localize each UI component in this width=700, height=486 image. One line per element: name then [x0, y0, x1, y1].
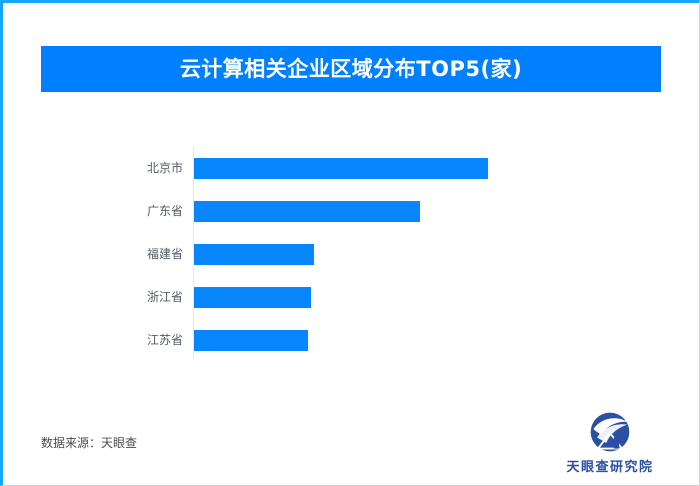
page-title: 云计算相关企业区域分布TOP5(家)	[180, 59, 522, 80]
bar-category-label: 广东省	[63, 201, 183, 222]
bar-row: 福建省	[3, 244, 700, 265]
bar-value	[194, 287, 311, 308]
bar-row: 北京市	[3, 158, 700, 179]
bar-category-label: 浙江省	[63, 287, 183, 308]
brand-logo-text: 天眼查研究院	[566, 456, 653, 475]
bar-value	[194, 330, 308, 351]
bar-track	[194, 244, 314, 265]
bar-category-label: 北京市	[63, 158, 183, 179]
bar-value	[194, 244, 314, 265]
bar-track	[194, 158, 488, 179]
bar-category-label: 福建省	[63, 244, 183, 265]
data-source-note: 数据来源：天眼查	[41, 434, 137, 451]
bar-value	[194, 201, 420, 222]
bar-value	[194, 158, 488, 179]
bar-category-label: 江苏省	[63, 330, 183, 351]
brand-logo: 天眼查研究院	[549, 409, 671, 477]
tianyancha-eye-icon	[587, 409, 633, 455]
bar-row: 江苏省	[3, 330, 700, 351]
bar-track	[194, 287, 311, 308]
bar-track	[194, 330, 308, 351]
infographic-canvas: 云计算相关企业区域分布TOP5(家) 北京市 广东省 福建省 浙江省	[0, 0, 700, 486]
bar-row: 浙江省	[3, 287, 700, 308]
bar-chart: 北京市 广东省 福建省 浙江省 江苏省	[3, 143, 700, 368]
bar-row: 广东省	[3, 201, 700, 222]
bar-track	[194, 201, 420, 222]
chart-title-banner: 云计算相关企业区域分布TOP5(家)	[41, 46, 661, 92]
